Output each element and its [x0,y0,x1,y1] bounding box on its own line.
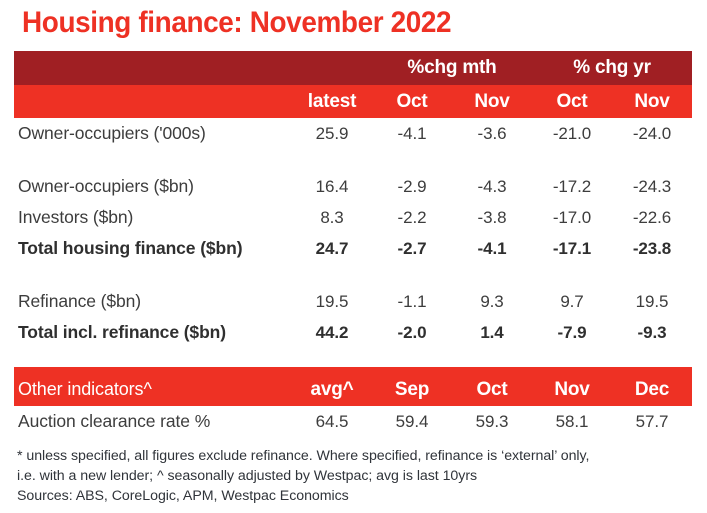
row-value-mth-oct: -2.0 [372,317,452,348]
row-label: Total incl. refinance ($bn) [14,317,292,348]
other-indicators-col-avg: avg^ [292,373,372,406]
other-indicators-col-oct: Oct [452,373,532,406]
row-label: Total housing finance ($bn) [14,233,292,264]
row-value-yr-nov: -9.3 [612,317,692,348]
row-label: Owner-occupiers ($bn) [14,171,292,202]
row-value-latest: 16.4 [292,171,372,202]
row-value-oct: 59.3 [452,406,532,437]
group-header-blank [14,51,292,85]
table-group-header-row: %chg mth % chg yr [14,51,692,85]
other-indicators-row: Auction clearance rate % 64.5 59.4 59.3 … [14,406,692,437]
table-row: Investors ($bn) 8.3 -2.2 -3.8 -17.0 -22.… [14,202,692,233]
spacer-cell [14,264,692,286]
row-value-latest: 24.7 [292,233,372,264]
row-value-mth-oct: -2.9 [372,171,452,202]
other-indicators-col-nov: Nov [532,373,612,406]
group-header-chg-mth: %chg mth [372,51,532,85]
other-indicators-header-row: Other indicators^ avg^ Sep Oct Nov Dec [14,373,692,406]
footnote-line-2: i.e. with a new lender; ^ seasonally adj… [17,466,689,486]
row-value-mth-nov: -3.8 [452,202,532,233]
row-value-mth-oct: -1.1 [372,286,452,317]
row-value-latest: 25.9 [292,118,372,149]
footnote-line-3-sources: Sources: ABS, CoreLogic, APM, Westpac Ec… [17,486,689,506]
row-value-latest: 19.5 [292,286,372,317]
sub-header-yr-nov: Nov [612,85,692,118]
row-value-yr-oct: -17.1 [532,233,612,264]
sub-header-mth-oct: Oct [372,85,452,118]
row-value-yr-nov: -24.3 [612,171,692,202]
row-label: Owner-occupiers ('000s) [14,118,292,149]
row-value-mth-oct: -4.1 [372,118,452,149]
row-value-yr-oct: -17.2 [532,171,612,202]
row-label: Investors ($bn) [14,202,292,233]
row-value-mth-nov: 9.3 [452,286,532,317]
sub-header-yr-oct: Oct [532,85,612,118]
row-value-yr-nov: -23.8 [612,233,692,264]
row-value-mth-oct: -2.7 [372,233,452,264]
other-indicators-col-dec: Dec [612,373,692,406]
section-gap-cell [14,348,692,367]
sub-header-blank [14,85,292,118]
section-gap-row [14,348,692,367]
row-label: Auction clearance rate % [14,406,292,437]
spacer-cell [14,149,692,171]
sub-header-mth-nov: Nov [452,85,532,118]
row-value-avg: 64.5 [292,406,372,437]
row-value-mth-oct: -2.2 [372,202,452,233]
table-row: Owner-occupiers ('000s) 25.9 -4.1 -3.6 -… [14,118,692,149]
row-value-latest: 44.2 [292,317,372,348]
row-value-mth-nov: -3.6 [452,118,532,149]
row-value-yr-nov: -22.6 [612,202,692,233]
row-value-mth-nov: -4.1 [452,233,532,264]
row-label: Refinance ($bn) [14,286,292,317]
row-value-yr-nov: -24.0 [612,118,692,149]
sub-header-latest: latest [292,85,372,118]
row-value-latest: 8.3 [292,202,372,233]
row-value-yr-oct: 9.7 [532,286,612,317]
footnote-block: * unless specified, all figures exclude … [17,446,689,506]
page-title: Housing finance: November 2022 [22,6,451,40]
footnote-line-1: * unless specified, all figures exclude … [17,446,689,466]
row-value-sep: 59.4 [372,406,452,437]
table-row: Refinance ($bn) 19.5 -1.1 9.3 9.7 19.5 [14,286,692,317]
group-header-spacer [292,51,372,85]
other-indicators-title: Other indicators^ [14,373,292,406]
other-indicators-col-sep: Sep [372,373,452,406]
table-row: Owner-occupiers ($bn) 16.4 -2.9 -4.3 -17… [14,171,692,202]
table-row-total: Total housing finance ($bn) 24.7 -2.7 -4… [14,233,692,264]
row-value-yr-nov: 19.5 [612,286,692,317]
row-value-yr-oct: -7.9 [532,317,612,348]
table-sub-header-row: latest Oct Nov Oct Nov [14,85,692,118]
housing-finance-table-card: Housing finance: November 2022 %chg mth … [0,0,707,513]
table-spacer-row [14,264,692,286]
row-value-yr-oct: -17.0 [532,202,612,233]
row-value-dec: 57.7 [612,406,692,437]
group-header-chg-yr: % chg yr [532,51,692,85]
row-value-yr-oct: -21.0 [532,118,612,149]
table-row-total: Total incl. refinance ($bn) 44.2 -2.0 1.… [14,317,692,348]
row-value-mth-nov: -4.3 [452,171,532,202]
row-value-nov: 58.1 [532,406,612,437]
main-data-table: %chg mth % chg yr latest Oct Nov Oct Nov… [14,51,692,437]
table-spacer-row [14,149,692,171]
row-value-mth-nov: 1.4 [452,317,532,348]
